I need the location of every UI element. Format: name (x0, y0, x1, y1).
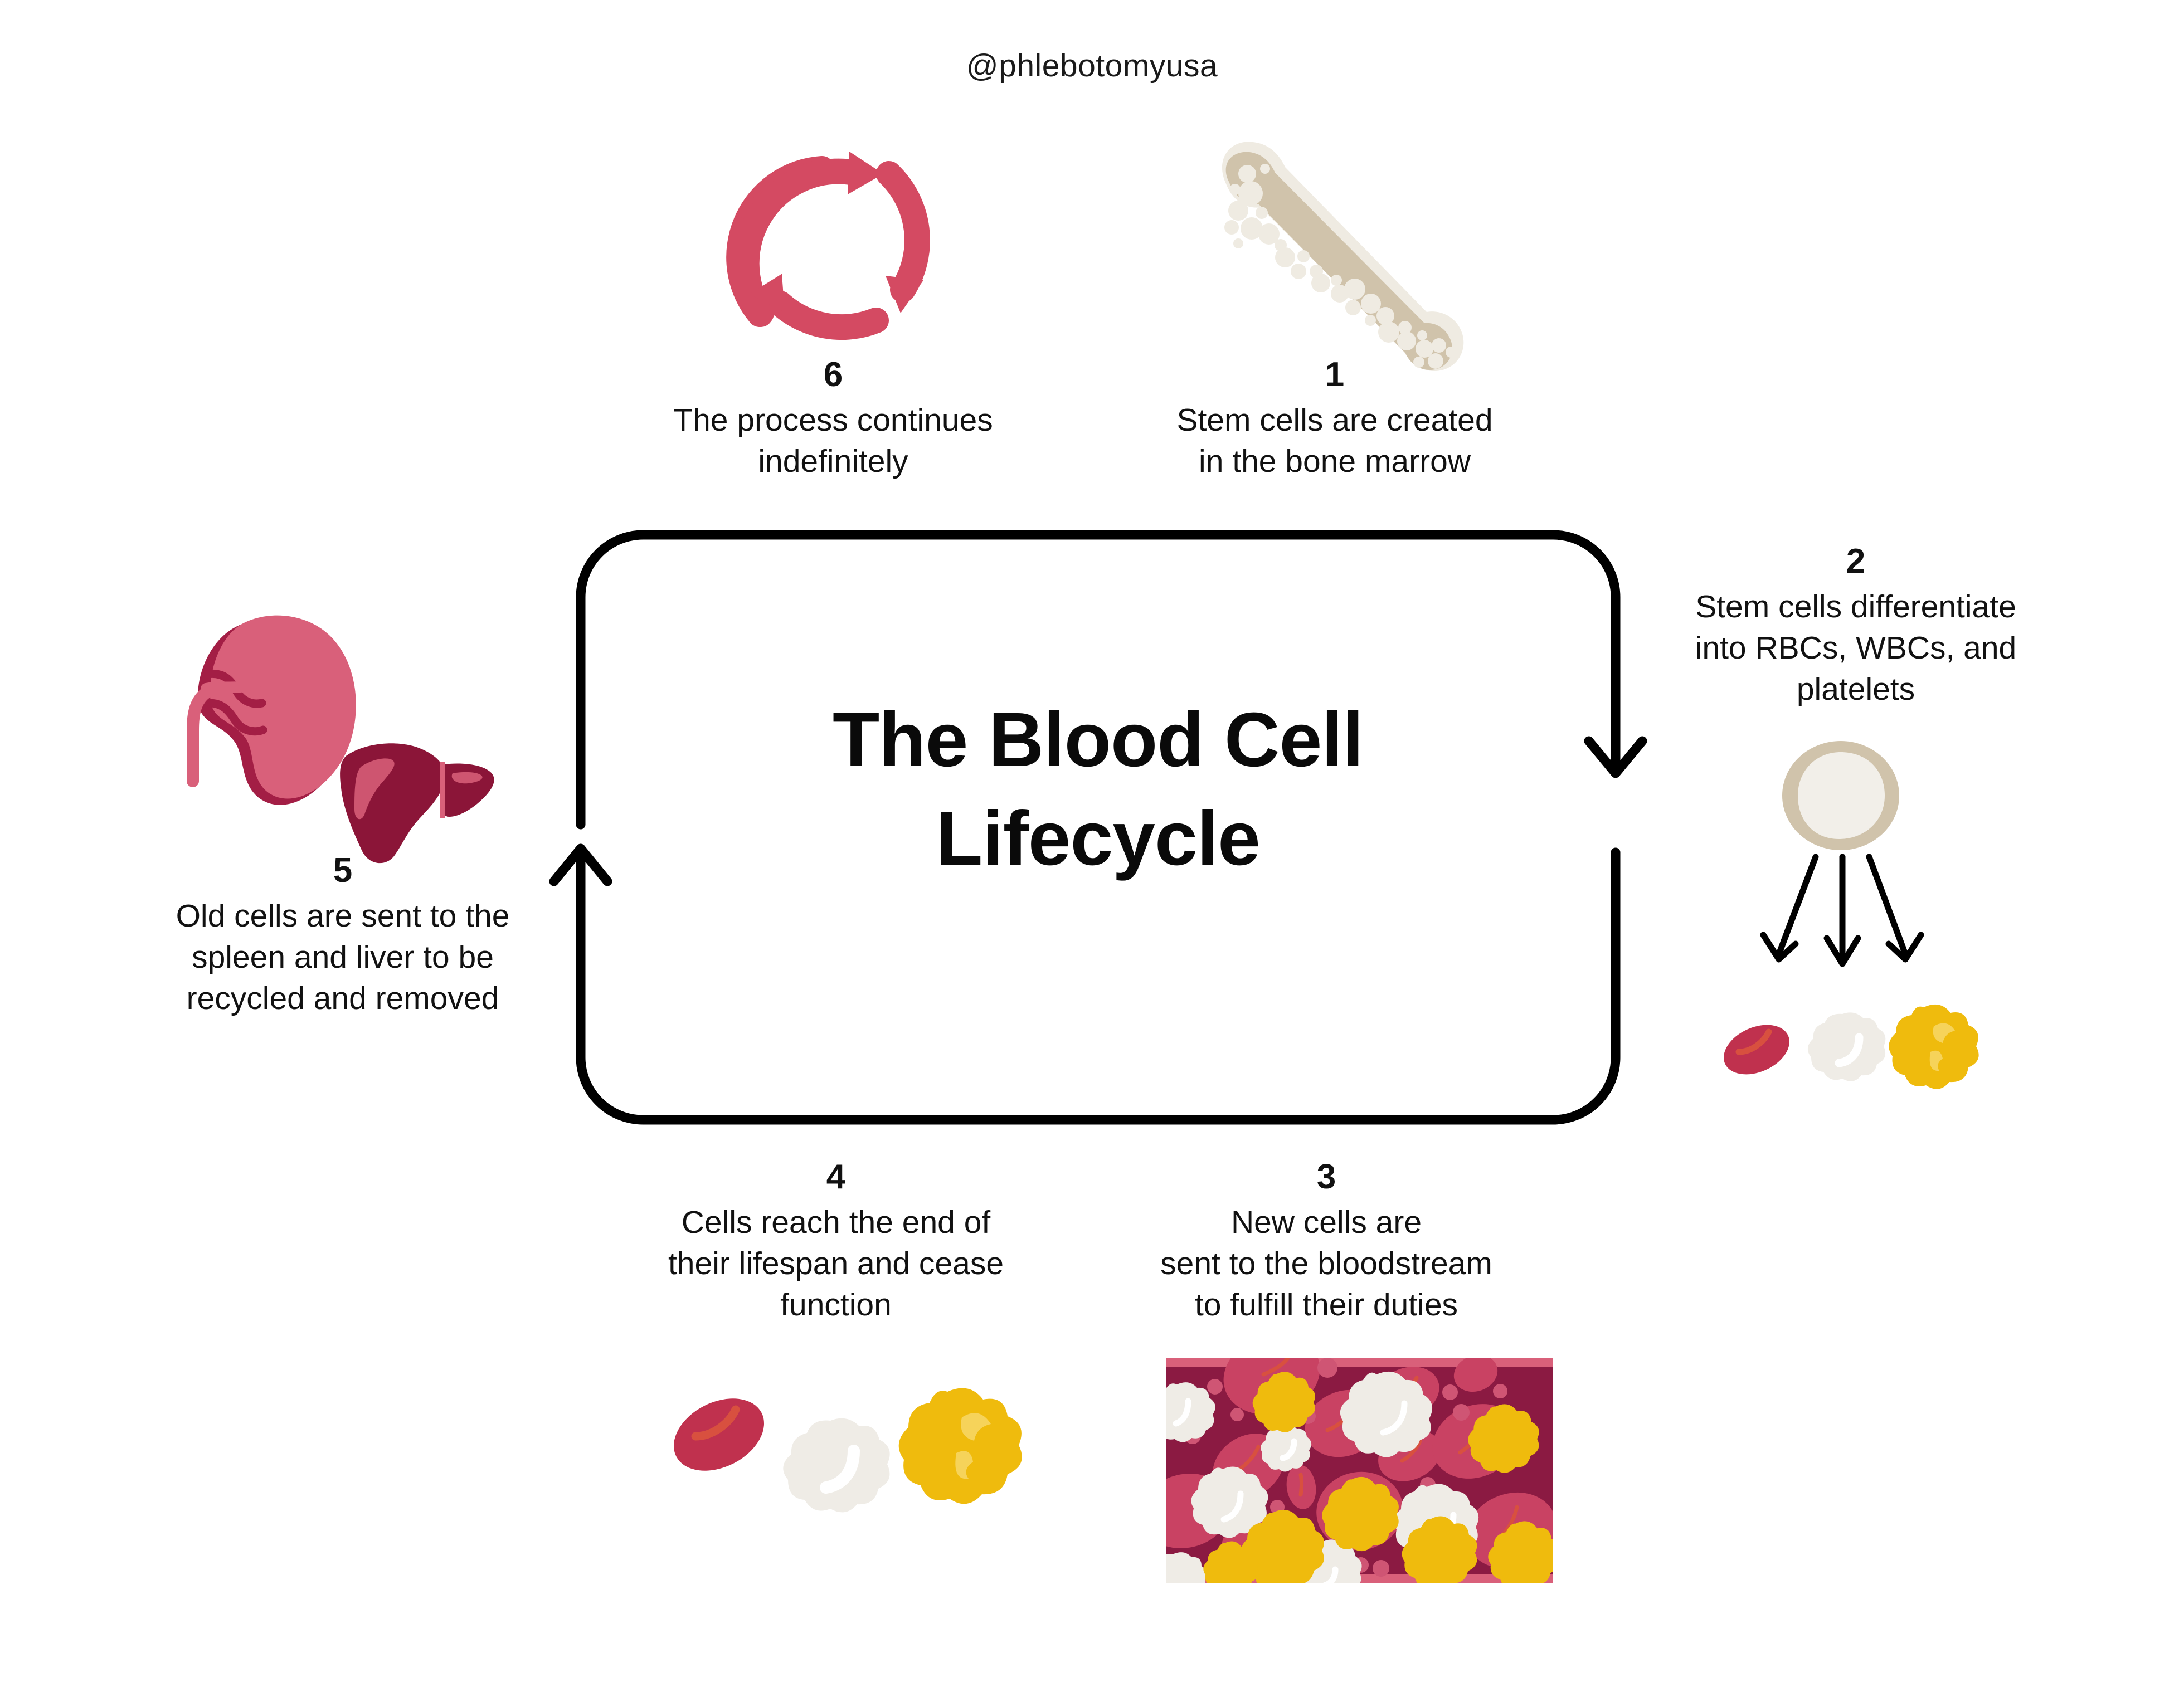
step-2-number: 2 (1633, 543, 2079, 579)
step-5-line3: recycled and removed (111, 978, 574, 1019)
liver-lobe (440, 764, 494, 817)
step-3-number: 3 (1092, 1159, 1560, 1195)
step-4-number: 4 (613, 1159, 1059, 1195)
bone-marrow-icon (1222, 142, 1463, 371)
step-6-number: 6 (605, 357, 1062, 393)
spleen-body (210, 616, 356, 799)
step-4-line1: Cells reach the end of (613, 1202, 1059, 1243)
step-6-line1: The process continues (605, 399, 1062, 441)
red-blood-cell-icon-4 (661, 1384, 776, 1485)
blood-cells-trio-icon (661, 1384, 1022, 1512)
differentiate-arrow-left (1779, 857, 1816, 953)
spleen-liver-icon (193, 616, 494, 864)
step-4-line2: their lifespan and cease (613, 1243, 1059, 1284)
step-2-line1: Stem cells differentiate (1633, 586, 2079, 627)
page-title: The Blood Cell Lifecycle (613, 691, 1583, 888)
platelet-icon (1889, 1005, 1978, 1089)
step-2: 2 Stem cells differentiate into RBCs, WB… (1633, 543, 2079, 710)
stem-cell-icon (1782, 741, 1899, 850)
bloodstream-icon (1166, 1358, 1553, 1583)
step-6-line2: indefinitely (605, 441, 1062, 482)
step-1: 1 Stem cells are created in the bone mar… (1106, 357, 1563, 482)
step-5-line2: spleen and liver to be (111, 937, 574, 978)
differentiate-arrow-right (1869, 857, 1905, 953)
red-blood-cell-icon (1716, 1015, 1797, 1084)
page-title-line1: The Blood Cell (613, 691, 1583, 789)
platelet-icon-4 (899, 1388, 1022, 1504)
step-5-line1: Old cells are sent to the (111, 895, 574, 937)
step-3-line1: New cells are (1092, 1202, 1560, 1243)
page-title-line2: Lifecycle (613, 789, 1583, 888)
step-4-line3: function (613, 1284, 1059, 1325)
white-blood-cell-icon-4 (783, 1418, 889, 1513)
step-3: 3 New cells are sent to the bloodstream … (1092, 1159, 1560, 1325)
step-5-number: 5 (111, 852, 574, 889)
step-5: 5 Old cells are sent to the spleen and l… (111, 852, 574, 1019)
step-6: 6 The process continues indefinitely (605, 357, 1062, 482)
step-1-line2: in the bone marrow (1106, 441, 1563, 482)
recycle-cycle-icon (738, 1, 923, 327)
flow-arrow-bottom-path (581, 852, 1616, 1120)
white-blood-cell-icon (1808, 1012, 1885, 1081)
step-4: 4 Cells reach the end of their lifespan … (613, 1159, 1059, 1325)
step-1-number: 1 (1106, 357, 1563, 393)
stem-cell-differentiation-icon (1716, 741, 1979, 1089)
step-1-line1: Stem cells are created (1106, 399, 1563, 441)
step-3-line3: to fulfill their duties (1092, 1284, 1560, 1325)
step-2-line2: into RBCs, WBCs, and (1633, 627, 2079, 669)
step-3-line2: sent to the bloodstream (1092, 1243, 1560, 1284)
step-2-line3: platelets (1633, 669, 2079, 710)
